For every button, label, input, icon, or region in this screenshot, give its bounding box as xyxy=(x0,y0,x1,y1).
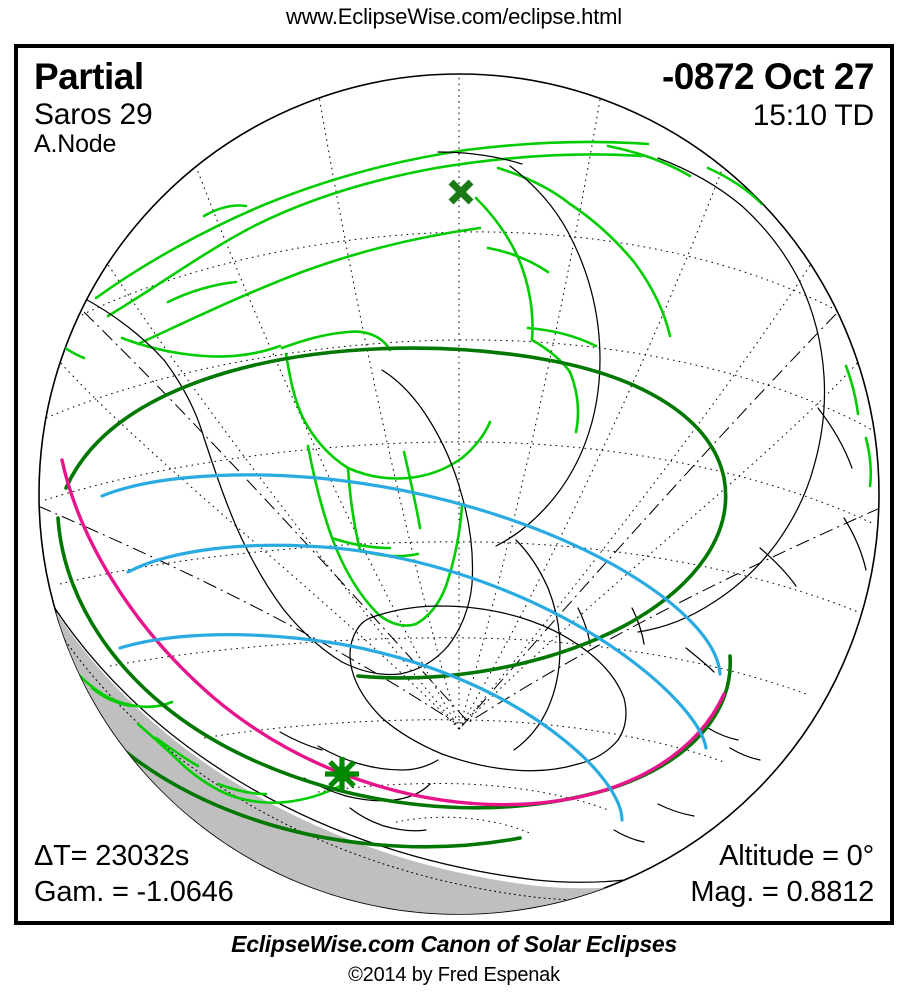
eclipse-info-bottom-right: Altitude = 0° Mag. = 0.8812 xyxy=(690,842,874,907)
footer: EclipseWise.com Canon of Solar Eclipses … xyxy=(0,931,908,987)
eclipse-date-label: -0872 Oct 27 xyxy=(662,58,874,95)
globe-diagram xyxy=(18,48,890,921)
node-label: A.Node xyxy=(34,132,152,157)
globe-svg xyxy=(18,48,890,921)
eclipse-time-label: 15:10 TD xyxy=(662,101,874,131)
saros-label: Saros 29 xyxy=(34,100,152,130)
eclipse-map-page: www.EclipseWise.com/eclipse.html xyxy=(0,0,908,1004)
greatest-eclipse-marker xyxy=(325,757,359,791)
eclipse-map-panel: Partial Saros 29 A.Node -0872 Oct 27 15:… xyxy=(14,44,894,925)
magnitude-label: Mag. = 0.8812 xyxy=(690,878,874,907)
altitude-label: Altitude = 0° xyxy=(690,842,874,871)
footer-title: EclipseWise.com Canon of Solar Eclipses xyxy=(0,931,908,958)
delta-t-label: ΔT= 23032s xyxy=(34,842,234,871)
eclipse-info-top-left: Partial Saros 29 A.Node xyxy=(34,58,152,157)
eclipse-type-label: Partial xyxy=(34,58,152,95)
gamma-label: Gam. = -1.0646 xyxy=(34,878,234,907)
footer-credit: ©2014 by Fred Espenak xyxy=(0,964,908,987)
eclipse-info-bottom-left: ΔT= 23032s Gam. = -1.0646 xyxy=(34,842,234,907)
eclipse-info-top-right: -0872 Oct 27 15:10 TD xyxy=(662,58,874,131)
header-url: www.EclipseWise.com/eclipse.html xyxy=(0,4,908,30)
